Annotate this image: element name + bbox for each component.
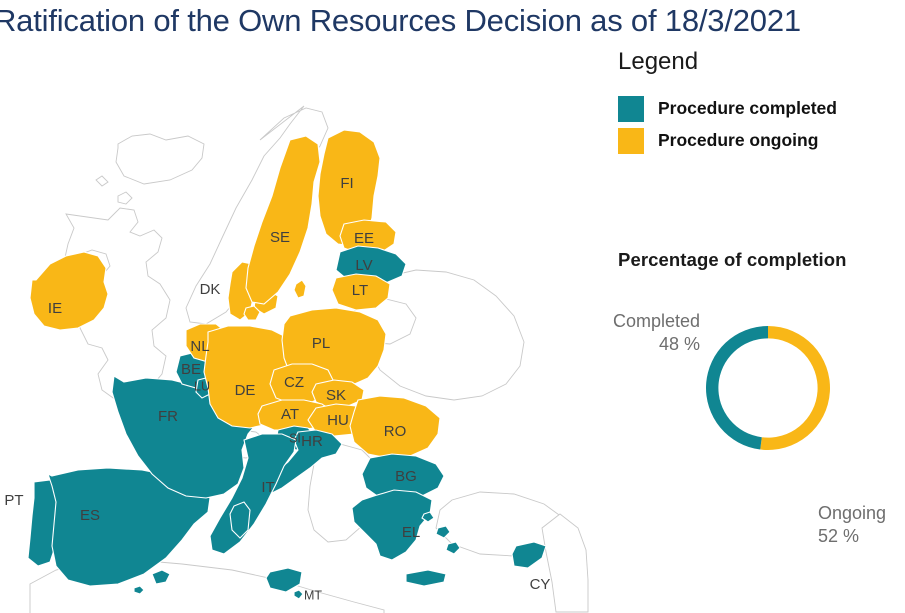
- legend: Legend Procedure completed Procedure ong…: [618, 50, 898, 160]
- country-shape-EL: [352, 490, 432, 560]
- donut-chart-title: Percentage of completion: [618, 250, 905, 270]
- infographic-root: Ratification of the Own Resources Decisi…: [0, 0, 905, 613]
- completion-donut-chart: Percentage of completion Completed 48 % …: [618, 250, 905, 580]
- donut-label-completed-value: 48 %: [604, 333, 700, 356]
- legend-label-ongoing: Procedure ongoing: [658, 131, 818, 150]
- donut-label-ongoing-name: Ongoing: [818, 502, 905, 525]
- country-shape-SE-gotland: [294, 280, 306, 298]
- legend-title: Legend: [618, 50, 898, 74]
- page-title: Ratification of the Own Resources Decisi…: [0, 0, 874, 42]
- donut-label-completed-name: Completed: [604, 310, 700, 333]
- legend-item-completed: Procedure completed: [618, 96, 898, 122]
- donut-label-ongoing: Ongoing 52 %: [818, 502, 905, 547]
- legend-label-completed: Procedure completed: [658, 99, 837, 118]
- legend-item-ongoing: Procedure ongoing: [618, 128, 898, 154]
- donut-slice-completed: [706, 326, 768, 450]
- country-shape-EL-crete: [406, 570, 446, 586]
- donut-slices: [706, 326, 830, 450]
- country-label-PT: PT: [4, 492, 23, 509]
- country-label-CY: CY: [530, 576, 551, 593]
- legend-swatch-completed: [618, 96, 644, 122]
- map-svg: IEPTESFRBELUNLDEDKSEFIEELVLTPLCZSKATHUSI…: [0, 44, 600, 613]
- donut-label-completed: Completed 48 %: [604, 310, 700, 355]
- donut-label-ongoing-value: 52 %: [818, 525, 905, 548]
- donut-svg: [698, 318, 838, 458]
- europe-map: IEPTESFRBELUNLDEDKSEFIEELVLTPLCZSKATHUSI…: [0, 44, 600, 613]
- donut-slice-ongoing: [760, 326, 830, 450]
- legend-swatch-ongoing: [618, 128, 644, 154]
- country-shape-CY: [512, 542, 546, 568]
- country-shape-RO: [350, 396, 440, 458]
